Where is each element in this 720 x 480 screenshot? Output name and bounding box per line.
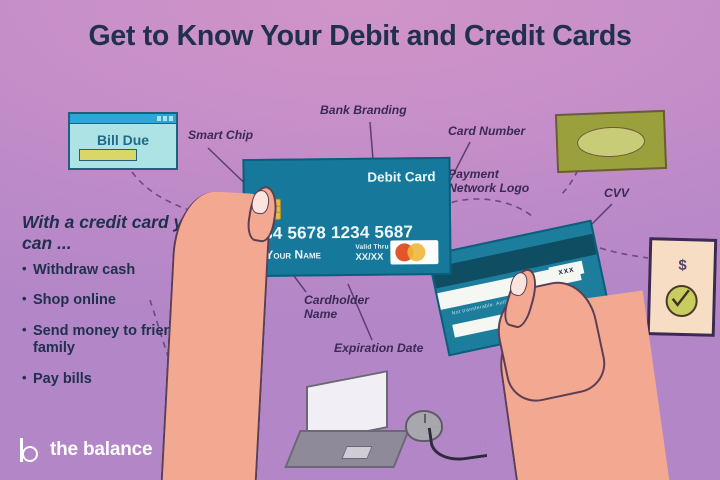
check-slip-icon: $ bbox=[647, 237, 718, 337]
callout-payment-network-logo: Payment Network Logo bbox=[448, 167, 529, 196]
cardholder-name-value: Your Name bbox=[265, 247, 321, 262]
valid-thru-value: XX/XX bbox=[355, 252, 389, 263]
expiration-block: Valid Thru XX/XX bbox=[355, 244, 389, 263]
balance-b-logo-icon bbox=[18, 438, 42, 462]
callout-bank-branding: Bank Branding bbox=[320, 103, 407, 117]
window-titlebar bbox=[70, 114, 176, 124]
bill-due-label: Bill Due bbox=[70, 132, 176, 148]
mouse-button-divider bbox=[424, 414, 426, 423]
infographic-canvas: Get to Know Your Debit and Credit Cards … bbox=[0, 0, 720, 480]
page-title: Get to Know Your Debit and Credit Cards bbox=[0, 22, 720, 51]
callout-expiration-date: Expiration Date bbox=[334, 341, 423, 355]
banknote-oval bbox=[576, 125, 645, 158]
dollar-sign-icon: $ bbox=[678, 257, 687, 274]
callout-card-number: Card Number bbox=[448, 124, 525, 138]
callout-cardholder-name: Cardholder Name bbox=[304, 293, 369, 322]
check-mark-circle-icon bbox=[665, 285, 698, 318]
callout-smart-chip: Smart Chip bbox=[188, 128, 253, 142]
laptop-trackpad bbox=[341, 446, 372, 459]
bill-due-window[interactable]: Bill Due bbox=[68, 112, 178, 170]
valid-thru-label: Valid Thru bbox=[355, 244, 388, 251]
mastercard-dual-circle-icon bbox=[390, 240, 438, 265]
brand-logo[interactable]: the balance bbox=[18, 438, 152, 462]
banknote-icon bbox=[555, 110, 667, 173]
bank-branding-label: Debit Card bbox=[367, 169, 435, 185]
window-control-dots bbox=[157, 116, 173, 121]
callout-cvv: CVV bbox=[604, 186, 629, 200]
brand-name: the balance bbox=[50, 439, 152, 461]
bill-pay-button[interactable] bbox=[79, 149, 137, 161]
